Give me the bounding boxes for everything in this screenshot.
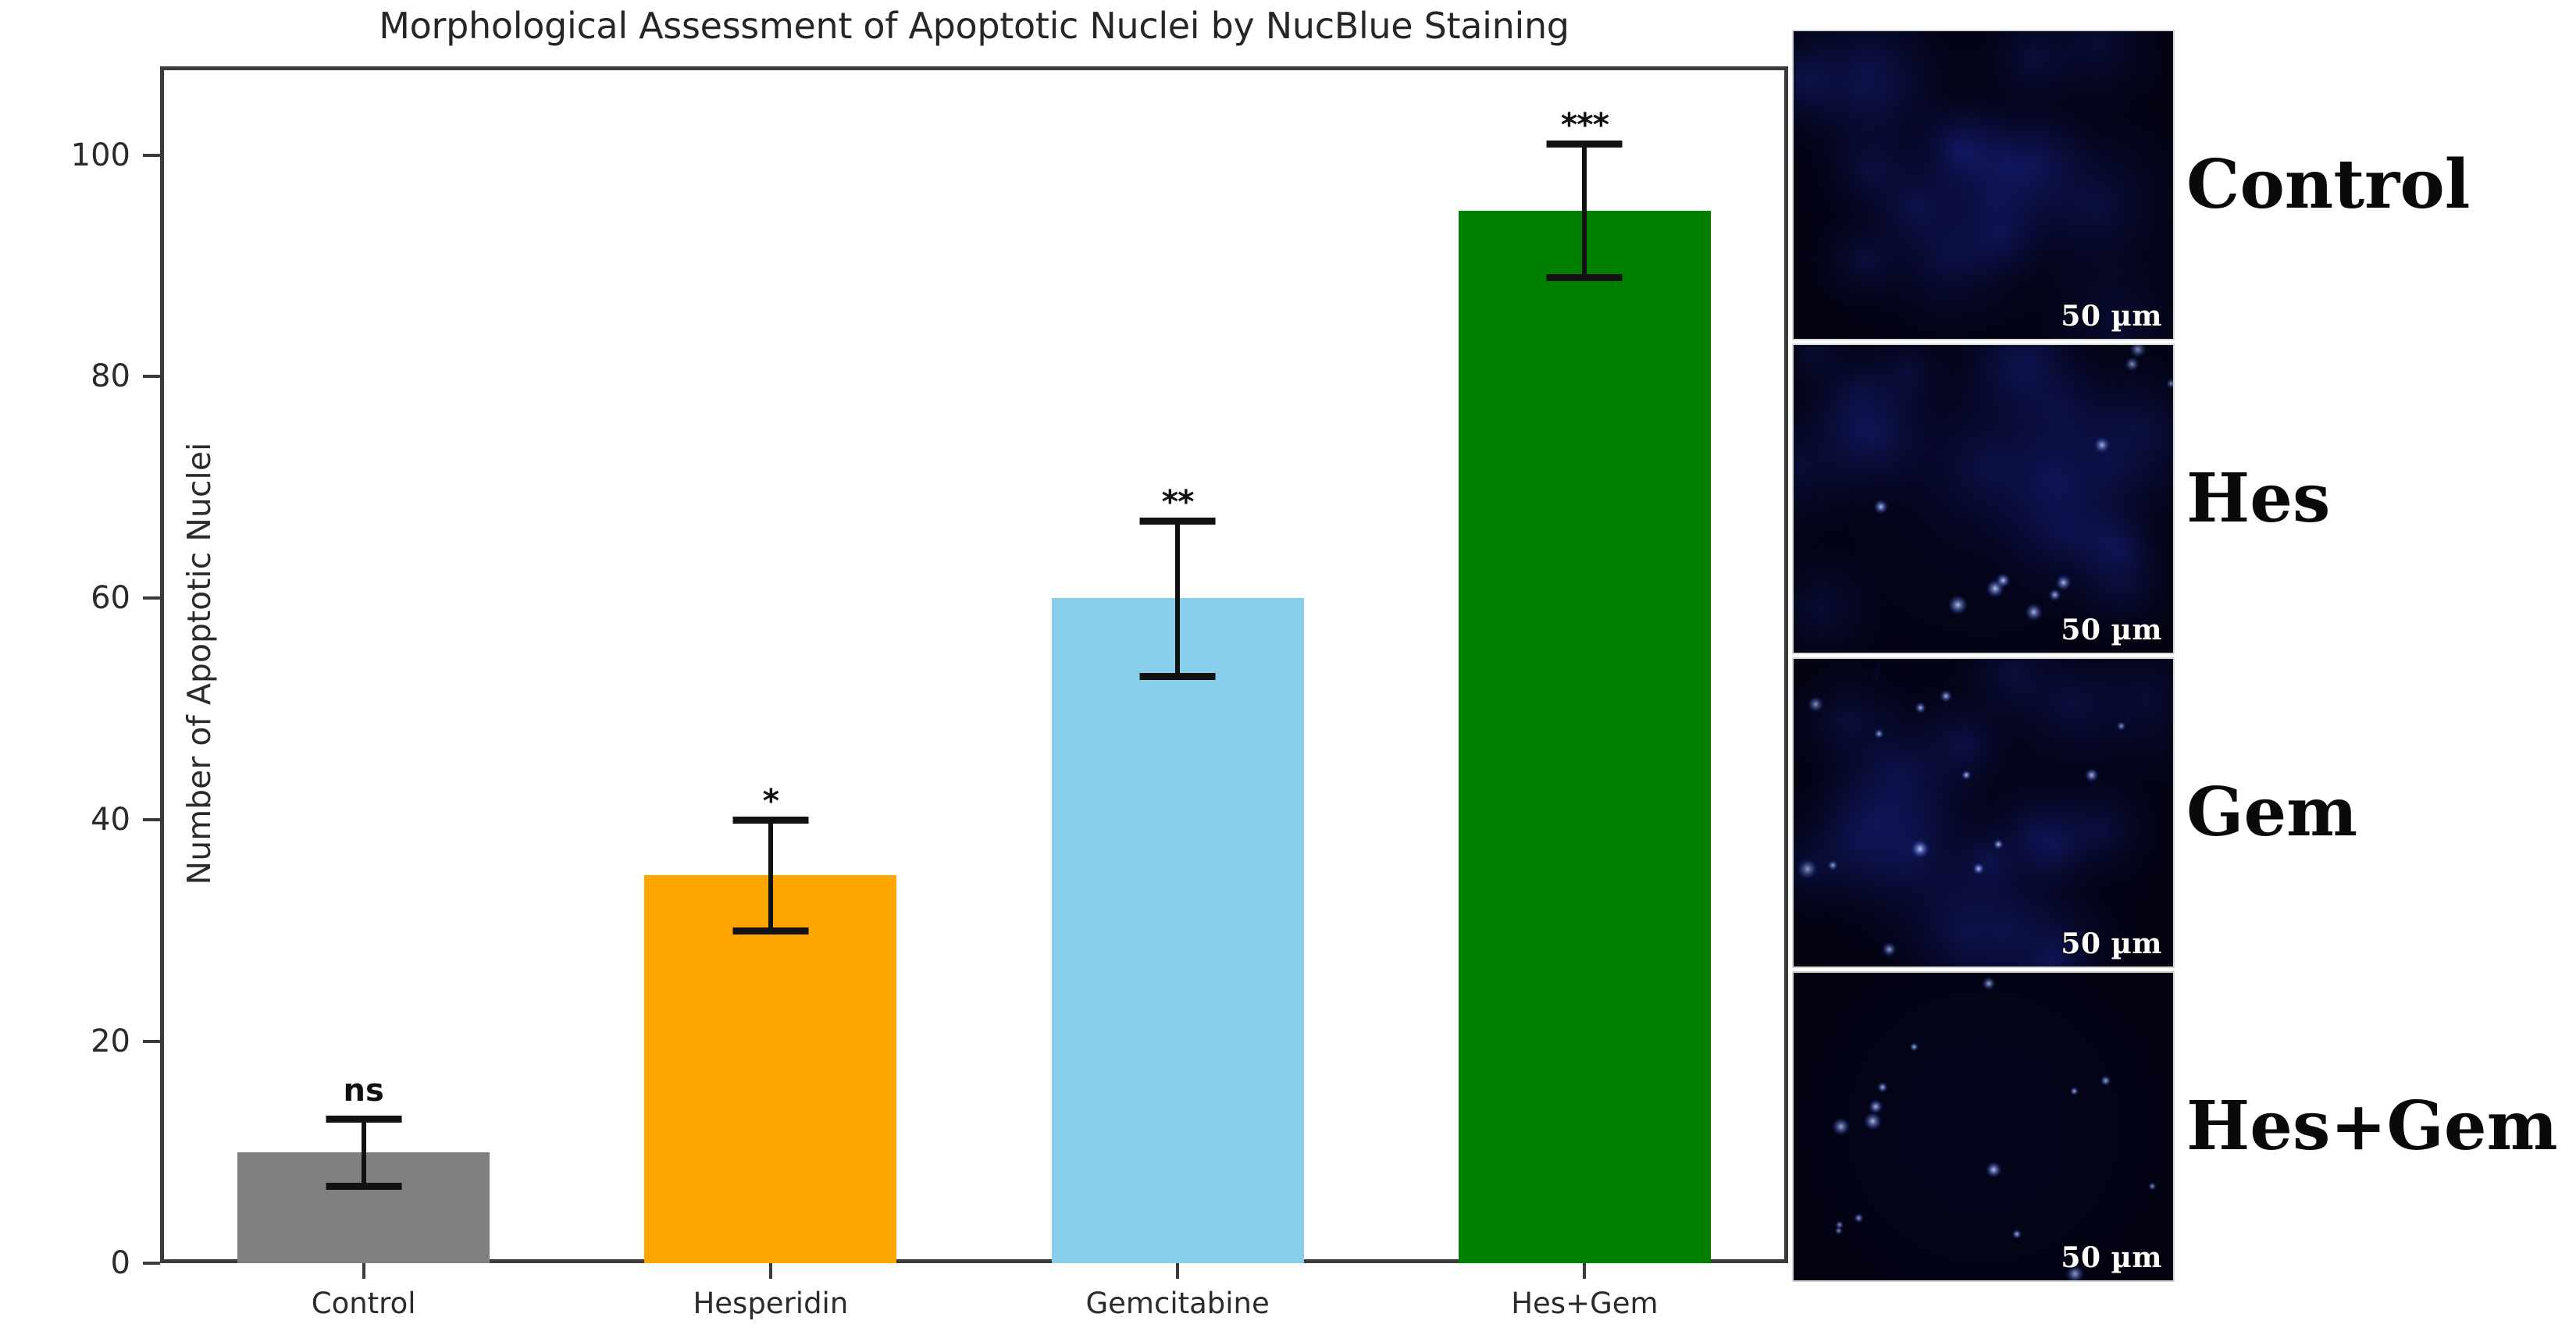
micrograph-label-hes-gem: Hes+Gem — [2186, 1093, 2558, 1160]
micrograph-image-hes[interactable]: 50 µm — [1792, 344, 2175, 654]
y-tick-label: 60 — [5, 580, 130, 616]
y-tick-label: 0 — [5, 1245, 130, 1281]
x-tick-mark — [362, 1263, 365, 1279]
micrograph-label-gem: Gem — [2186, 779, 2357, 846]
micrograph-row-control: 50 µmControl — [1792, 30, 2576, 340]
figure-root: Morphological Assessment of Apoptotic Nu… — [0, 0, 2576, 1335]
y-tick-mark — [143, 1262, 160, 1265]
nucblue-fluorescence-canvas — [1794, 345, 2173, 653]
error-bar-stem — [1175, 521, 1180, 676]
nucblue-fluorescence-canvas — [1794, 973, 2173, 1280]
significance-marker-control: ns — [343, 1075, 383, 1106]
micrograph-image-control[interactable]: 50 µm — [1792, 30, 2175, 340]
micrograph-row-hes: 50 µmHes — [1792, 344, 2576, 654]
micrograph-row-gem: 50 µmGem — [1792, 657, 2576, 968]
nucblue-fluorescence-canvas — [1794, 31, 2173, 339]
x-tick-mark — [769, 1263, 772, 1279]
significance-marker-hes-gem: *** — [1561, 109, 1609, 141]
micrograph-label-hes: Hes — [2186, 465, 2330, 532]
error-bar-cap-lower — [1547, 274, 1623, 281]
scale-bar-label: 50 µm — [2061, 300, 2162, 333]
nucblue-fluorescence-canvas — [1794, 659, 2173, 967]
x-tick-label-hes-gem: Hes+Gem — [1511, 1287, 1658, 1320]
x-tick-mark — [1583, 1263, 1586, 1279]
bar-gemcitabine[interactable] — [1052, 598, 1304, 1263]
y-tick-label: 20 — [5, 1023, 130, 1059]
bar-hes-gem[interactable] — [1459, 211, 1711, 1263]
x-tick-label-control: Control — [312, 1287, 416, 1320]
micrograph-label-control: Control — [2186, 151, 2470, 219]
y-tick-label: 100 — [5, 137, 130, 173]
scale-bar-label: 50 µm — [2061, 1241, 2162, 1274]
error-bar-cap-upper — [326, 1116, 401, 1123]
error-bar-cap-lower — [732, 927, 808, 934]
significance-marker-hesperidin: * — [763, 785, 779, 817]
micrograph-image-hes-gem[interactable]: 50 µm — [1792, 971, 2175, 1282]
error-bar-cap-lower — [1140, 673, 1216, 680]
y-tick-label: 80 — [5, 358, 130, 394]
chart-title: Morphological Assessment of Apoptotic Nu… — [160, 5, 1788, 47]
error-bar-stem — [362, 1119, 366, 1185]
micrograph-panel: 50 µmControl50 µmHes50 µmGem50 µmHes+Gem — [1792, 0, 2576, 1335]
error-bar-stem — [1582, 144, 1587, 276]
error-bar-stem — [768, 820, 773, 931]
y-tick-mark — [143, 1040, 160, 1043]
micrograph-row-hes-gem: 50 µmHes+Gem — [1792, 971, 2576, 1282]
significance-marker-gemcitabine: ** — [1162, 486, 1194, 518]
y-tick-mark — [143, 375, 160, 378]
scale-bar-label: 50 µm — [2061, 927, 2162, 960]
x-tick-label-gemcitabine: Gemcitabine — [1085, 1287, 1269, 1320]
plot-area: Number of Apoptotic Nuclei 020406080100 … — [160, 66, 1788, 1263]
micrograph-image-gem[interactable]: 50 µm — [1792, 657, 2175, 968]
y-axis-label: Number of Apoptotic Nuclei — [180, 429, 218, 898]
x-tick-label-hesperidin: Hesperidin — [693, 1287, 848, 1320]
y-tick-mark — [143, 154, 160, 157]
y-tick-label: 40 — [5, 802, 130, 838]
error-bar-cap-lower — [326, 1183, 401, 1190]
scale-bar-label: 50 µm — [2061, 614, 2162, 646]
y-tick-mark — [143, 596, 160, 600]
y-tick-mark — [143, 818, 160, 821]
x-tick-mark — [1176, 1263, 1179, 1279]
bar-chart-panel: Morphological Assessment of Apoptotic Nu… — [0, 0, 1796, 1335]
